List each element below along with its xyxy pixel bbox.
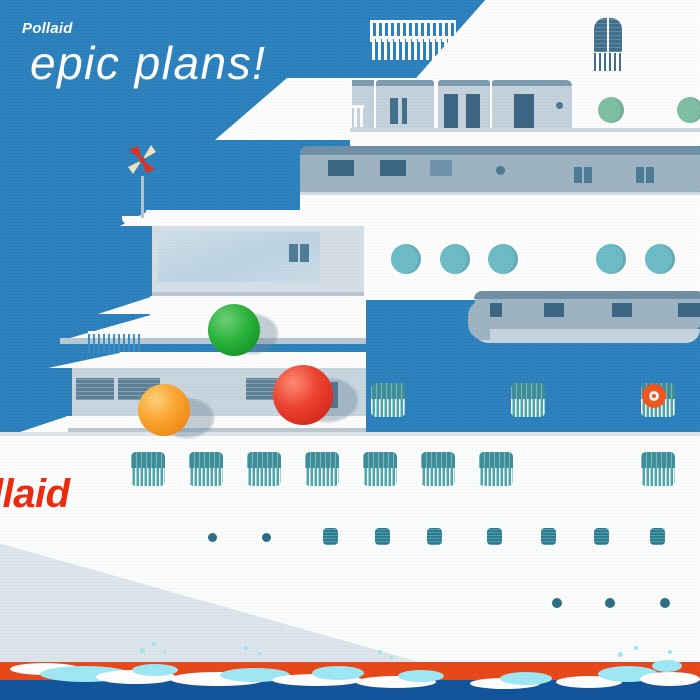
- porthole-teal: [488, 244, 518, 274]
- window-lower-railing: [189, 468, 223, 486]
- small-window-pair: [574, 167, 582, 183]
- wave-foam: [398, 670, 444, 682]
- orange-ball: [138, 384, 190, 436]
- lifeboat-deck-window: [612, 303, 632, 317]
- window-lower-railing: [371, 399, 405, 417]
- hull-square-window: [131, 452, 165, 486]
- hull-square-window: [479, 452, 513, 486]
- window-upper-pane: [371, 383, 405, 399]
- hull-window-small: [650, 528, 665, 545]
- lifeboat-station-window: [371, 383, 405, 417]
- lower-forward-window: [76, 378, 114, 400]
- promenade-window: [430, 160, 452, 176]
- wave-foam: [652, 660, 682, 672]
- hull-window-small: [427, 528, 442, 545]
- wave-foam: [132, 664, 178, 676]
- cabin-door: [514, 94, 534, 128]
- railing-forward-deck: [88, 331, 140, 353]
- window-lower-railing: [363, 468, 397, 486]
- porthole-teal: [391, 244, 421, 274]
- cabin-window: [390, 98, 398, 124]
- hull-window-small: [487, 528, 502, 545]
- spray-droplet: [163, 651, 166, 654]
- window-upper-pane: [421, 452, 455, 468]
- window-lower-railing: [247, 468, 281, 486]
- hull-square-window: [641, 452, 675, 486]
- hull-porthole-bottom: [660, 598, 670, 608]
- spray-droplet: [634, 646, 638, 650]
- hull-window-small: [541, 528, 556, 545]
- cabin-knob-porthole: [556, 102, 563, 109]
- lifeboat-deck-cabin: [474, 291, 700, 329]
- window-lower-railing: [641, 468, 675, 486]
- hull-square-window: [421, 452, 455, 486]
- headline-text: epic plans!: [30, 36, 266, 90]
- hull-square-window: [247, 452, 281, 486]
- spray-droplet: [152, 642, 156, 646]
- window-upper-pane: [641, 452, 675, 468]
- hull-square-window: [305, 452, 339, 486]
- porthole-green: [598, 97, 624, 123]
- spray-droplet: [244, 646, 248, 650]
- lifeboat-deck-cabin-roof: [474, 291, 700, 299]
- hull-porthole-bottom: [552, 598, 562, 608]
- window-upper-pane: [247, 452, 281, 468]
- railing-tier-2: [372, 36, 492, 60]
- promenade-deck-shadow: [300, 192, 700, 195]
- window-upper-pane: [131, 452, 165, 468]
- promenade-cabin-roof: [300, 146, 700, 155]
- cabin-unit: [510, 80, 572, 128]
- hull-square-window: [363, 452, 397, 486]
- wave-foam: [500, 672, 552, 685]
- bridge-wing-deck: [150, 296, 366, 314]
- spray-droplet: [258, 652, 261, 655]
- bridge-side-window: [300, 244, 309, 262]
- cabin-unit-roof: [376, 80, 434, 86]
- small-window-pair: [636, 167, 644, 183]
- spray-droplet: [390, 656, 393, 659]
- cabin-unit-roof: [438, 80, 490, 86]
- promenade-window: [328, 160, 354, 176]
- pinwheel-icon: [122, 140, 162, 180]
- brand-logo-top: Pollaid: [22, 20, 73, 37]
- window-upper-pane: [511, 383, 545, 399]
- lifebuoy-icon: [642, 384, 666, 408]
- green-ball: [208, 304, 260, 356]
- hull-porthole-small: [208, 533, 217, 542]
- window-lower-railing: [479, 468, 513, 486]
- spray-droplet: [618, 652, 623, 657]
- window-lower-railing: [131, 468, 165, 486]
- hull-top-edge: [0, 432, 700, 436]
- porthole-green: [677, 97, 700, 123]
- lifebuoy-core: [652, 394, 656, 398]
- promenade-knob-porthole: [496, 166, 505, 175]
- spray-droplet: [378, 650, 382, 654]
- lifeboat-deck-cabin-nose: [468, 300, 490, 340]
- lifeboat-deck-window: [544, 303, 564, 317]
- porthole-teal: [596, 244, 626, 274]
- arched-window-mullion: [607, 18, 609, 52]
- lifeboat-station-window: [511, 383, 545, 417]
- mast-platform: [122, 216, 206, 224]
- arched-window: [594, 18, 622, 52]
- bridge-side-window: [289, 244, 298, 262]
- spray-droplet: [668, 650, 672, 654]
- window-upper-pane: [189, 452, 223, 468]
- hull-porthole-bottom: [605, 598, 615, 608]
- window-upper-pane: [363, 452, 397, 468]
- promenade-window: [380, 160, 406, 176]
- window-lower-railing: [511, 399, 545, 417]
- window-upper-pane: [305, 452, 339, 468]
- brand-logo-hull: llaid: [0, 472, 70, 517]
- illustration-canvas: Pollaid epic plans! llaid: [0, 0, 700, 700]
- deck-tier-3: [350, 132, 700, 146]
- pinwheel-mast: [141, 176, 144, 218]
- hull-window-small: [594, 528, 609, 545]
- cabin-window: [402, 98, 407, 124]
- arched-window-railing: [594, 53, 622, 71]
- cabin-unit: [438, 80, 490, 128]
- hull-square-window: [189, 452, 223, 486]
- railing-left-small: [348, 105, 364, 127]
- small-window-pair: [646, 167, 654, 183]
- lifeboat-deck-window: [488, 303, 502, 317]
- porthole-teal: [440, 244, 470, 274]
- cabin-door: [466, 94, 480, 128]
- cabin-unit-roof: [510, 80, 572, 86]
- small-window-pair: [584, 167, 592, 183]
- red-ball: [273, 365, 333, 425]
- window-lower-railing: [421, 468, 455, 486]
- porthole-teal: [645, 244, 675, 274]
- cabin-door: [444, 94, 458, 128]
- lifeboat-deck-window: [678, 303, 700, 317]
- hull-window-small: [375, 528, 390, 545]
- hull-porthole-small: [262, 533, 271, 542]
- wave-foam: [312, 666, 364, 680]
- hull-window-small: [323, 528, 338, 545]
- cabin-unit-roof: [352, 80, 374, 86]
- wave-foam: [640, 672, 700, 686]
- cabin-unit: [376, 80, 434, 128]
- spray-droplet: [140, 648, 145, 653]
- window-upper-pane: [479, 452, 513, 468]
- lifeboat-deck-apron: [474, 329, 700, 343]
- window-lower-railing: [305, 468, 339, 486]
